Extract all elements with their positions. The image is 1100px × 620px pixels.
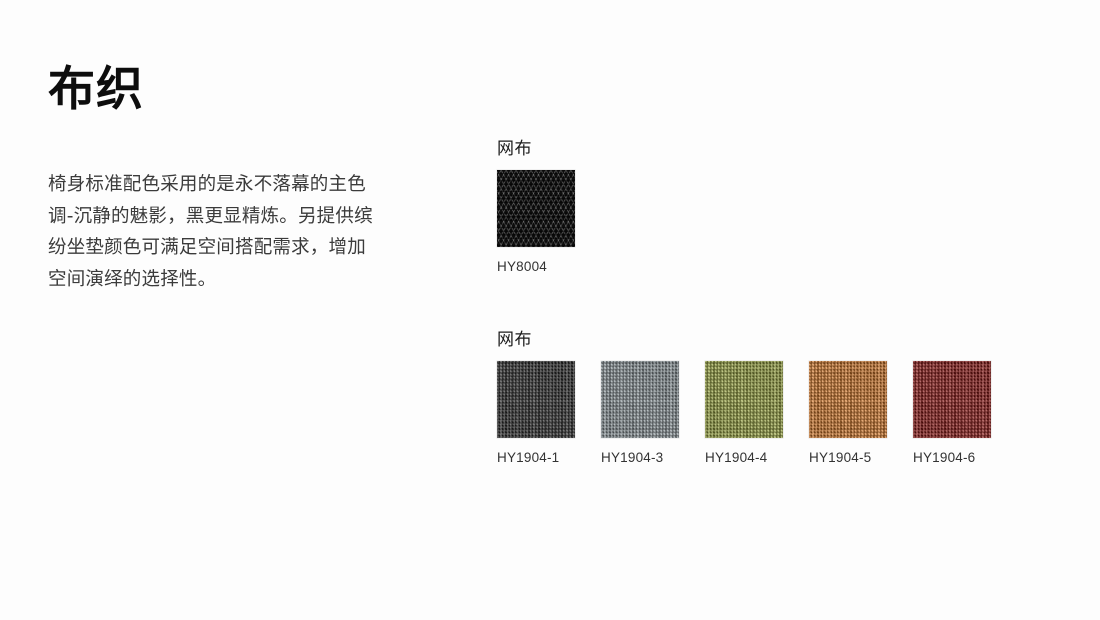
swatch-label: HY8004 (497, 259, 575, 274)
swatch-item[interactable]: HY1904-4 (705, 361, 783, 465)
swatch-item[interactable]: HY1904-6 (913, 361, 991, 465)
swatch-item[interactable]: HY1904-3 (601, 361, 679, 465)
swatch-chip-hy1904-3[interactable] (601, 361, 679, 438)
body-paragraph: 椅身标准配色采用的是永不落幕的主色调-沉静的魅影，黑更显精炼。另提供缤纷坐垫颜色… (48, 169, 378, 295)
swatch-item[interactable]: HY1904-5 (809, 361, 887, 465)
swatch-chip-hy1904-6[interactable] (913, 361, 991, 438)
swatch-label: HY1904-3 (601, 450, 679, 465)
swatch-column: 网布 HY8004 网布 HY1904-1 HY1904-3 HY1904-4 (497, 0, 1057, 620)
swatch-item[interactable]: HY1904-1 (497, 361, 575, 465)
page-title: 布织 (48, 62, 428, 117)
swatch-item[interactable]: HY8004 (497, 170, 575, 274)
swatch-row: HY8004 (497, 170, 575, 274)
swatch-label: HY1904-6 (913, 450, 991, 465)
swatch-chip-hy8004[interactable] (497, 170, 575, 247)
swatch-label: HY1904-5 (809, 450, 887, 465)
swatch-chip-hy1904-4[interactable] (705, 361, 783, 438)
swatch-section-mesh-colors: 网布 HY1904-1 HY1904-3 HY1904-4 HY1904-5 H… (497, 325, 991, 465)
section-heading: 网布 (497, 325, 991, 350)
section-heading: 网布 (497, 134, 575, 159)
swatch-section-mesh-primary: 网布 HY8004 (497, 134, 575, 274)
swatch-label: HY1904-4 (705, 450, 783, 465)
swatch-label: HY1904-1 (497, 450, 575, 465)
swatch-chip-hy1904-5[interactable] (809, 361, 887, 438)
swatch-chip-hy1904-1[interactable] (497, 361, 575, 438)
text-column: 布织 椅身标准配色采用的是永不落幕的主色调-沉静的魅影，黑更显精炼。另提供缤纷坐… (48, 62, 428, 295)
swatch-row: HY1904-1 HY1904-3 HY1904-4 HY1904-5 HY19… (497, 361, 991, 465)
